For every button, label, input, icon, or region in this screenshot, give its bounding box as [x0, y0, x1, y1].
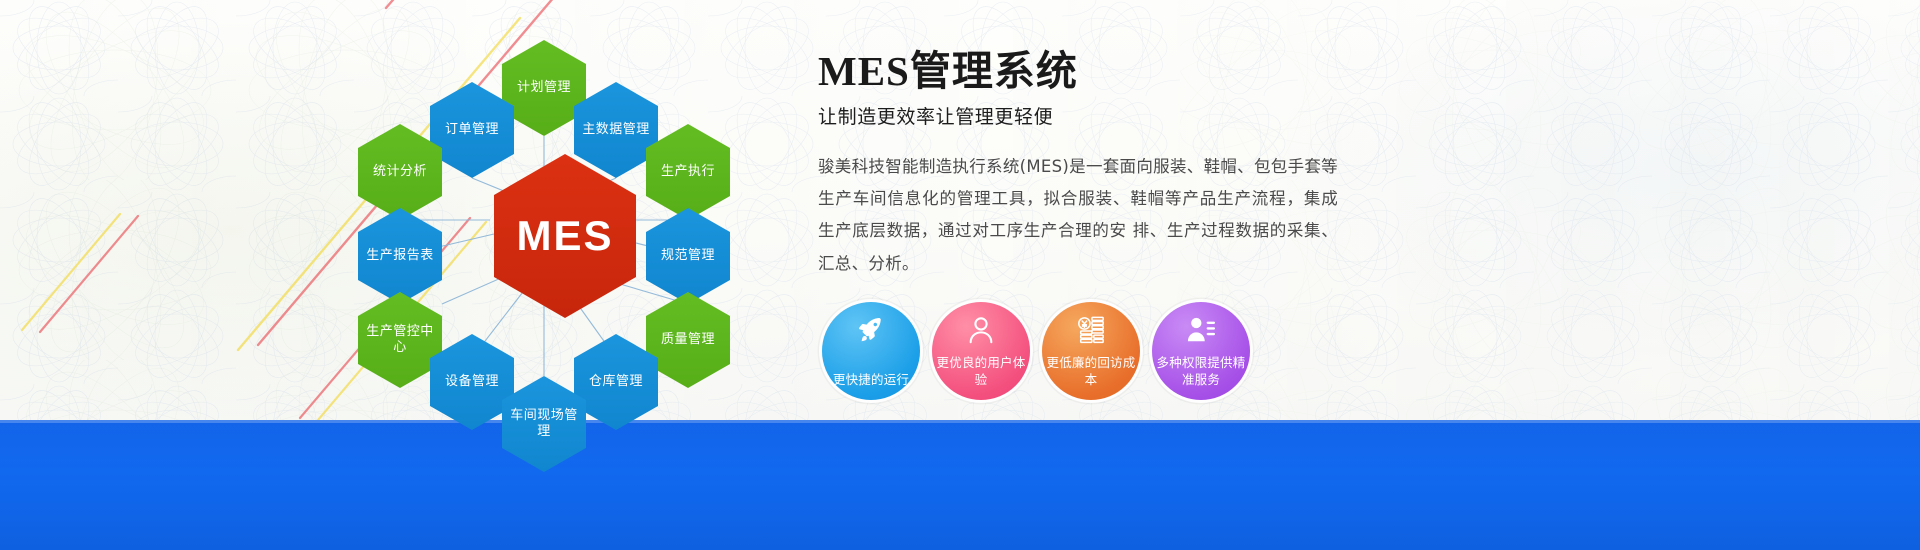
hex-core-label: MES	[512, 210, 617, 263]
rocket-icon	[854, 313, 888, 347]
user-icon	[964, 313, 998, 347]
page-description: 骏美科技智能制造执行系统(MES)是一套面向服装、鞋帽、包包手套等生产车间信息化…	[818, 151, 1338, 280]
hex-label: 生产执行	[657, 164, 719, 180]
page-subtitle: 让制造更效率让管理更轻便	[818, 102, 1338, 129]
feature-label: 多种权限提供精准服务	[1156, 355, 1246, 389]
feature-circle-list: 更快捷的运行 更优良的用户体验	[822, 302, 1250, 400]
hex-label: 质量管理	[657, 332, 719, 348]
hex-label: 订单管理	[441, 122, 503, 138]
hex-label: 车间现场管理	[502, 408, 586, 441]
mes-hexagon-diagram: MES 计划管理 订单管理 主数据管理 统计分析 生产执行 生产报告表 规范管理…	[330, 20, 800, 440]
feature-circle-0[interactable]: 更快捷的运行	[822, 302, 920, 400]
feature-label: 更快捷的运行	[826, 372, 916, 389]
money-stack-icon	[1074, 313, 1108, 347]
feature-circle-2[interactable]: 更低廉的回访成本	[1042, 302, 1140, 400]
user-list-icon	[1184, 313, 1218, 347]
page-title: MES管理系统	[818, 48, 1338, 95]
feature-circle-1[interactable]: 更优良的用户体验	[932, 302, 1030, 400]
feature-circle-3[interactable]: 多种权限提供精准服务	[1152, 302, 1250, 400]
background-blue-band	[0, 420, 1920, 550]
banner-stage: MES 计划管理 订单管理 主数据管理 统计分析 生产执行 生产报告表 规范管理…	[0, 0, 1920, 550]
hex-label: 规范管理	[657, 248, 719, 264]
hex-label: 统计分析	[369, 164, 431, 180]
hex-label: 仓库管理	[585, 374, 647, 390]
hex-label: 生产报告表	[362, 248, 438, 264]
hex-label: 主数据管理	[578, 122, 654, 138]
hex-label: 设备管理	[441, 374, 503, 390]
hex-label: 生产管控中心	[358, 324, 442, 357]
banner-text-column: MES管理系统 让制造更效率让管理更轻便 骏美科技智能制造执行系统(MES)是一…	[818, 48, 1338, 280]
feature-label: 更优良的用户体验	[936, 355, 1026, 389]
feature-label: 更低廉的回访成本	[1046, 355, 1136, 389]
hex-label: 计划管理	[513, 80, 575, 96]
